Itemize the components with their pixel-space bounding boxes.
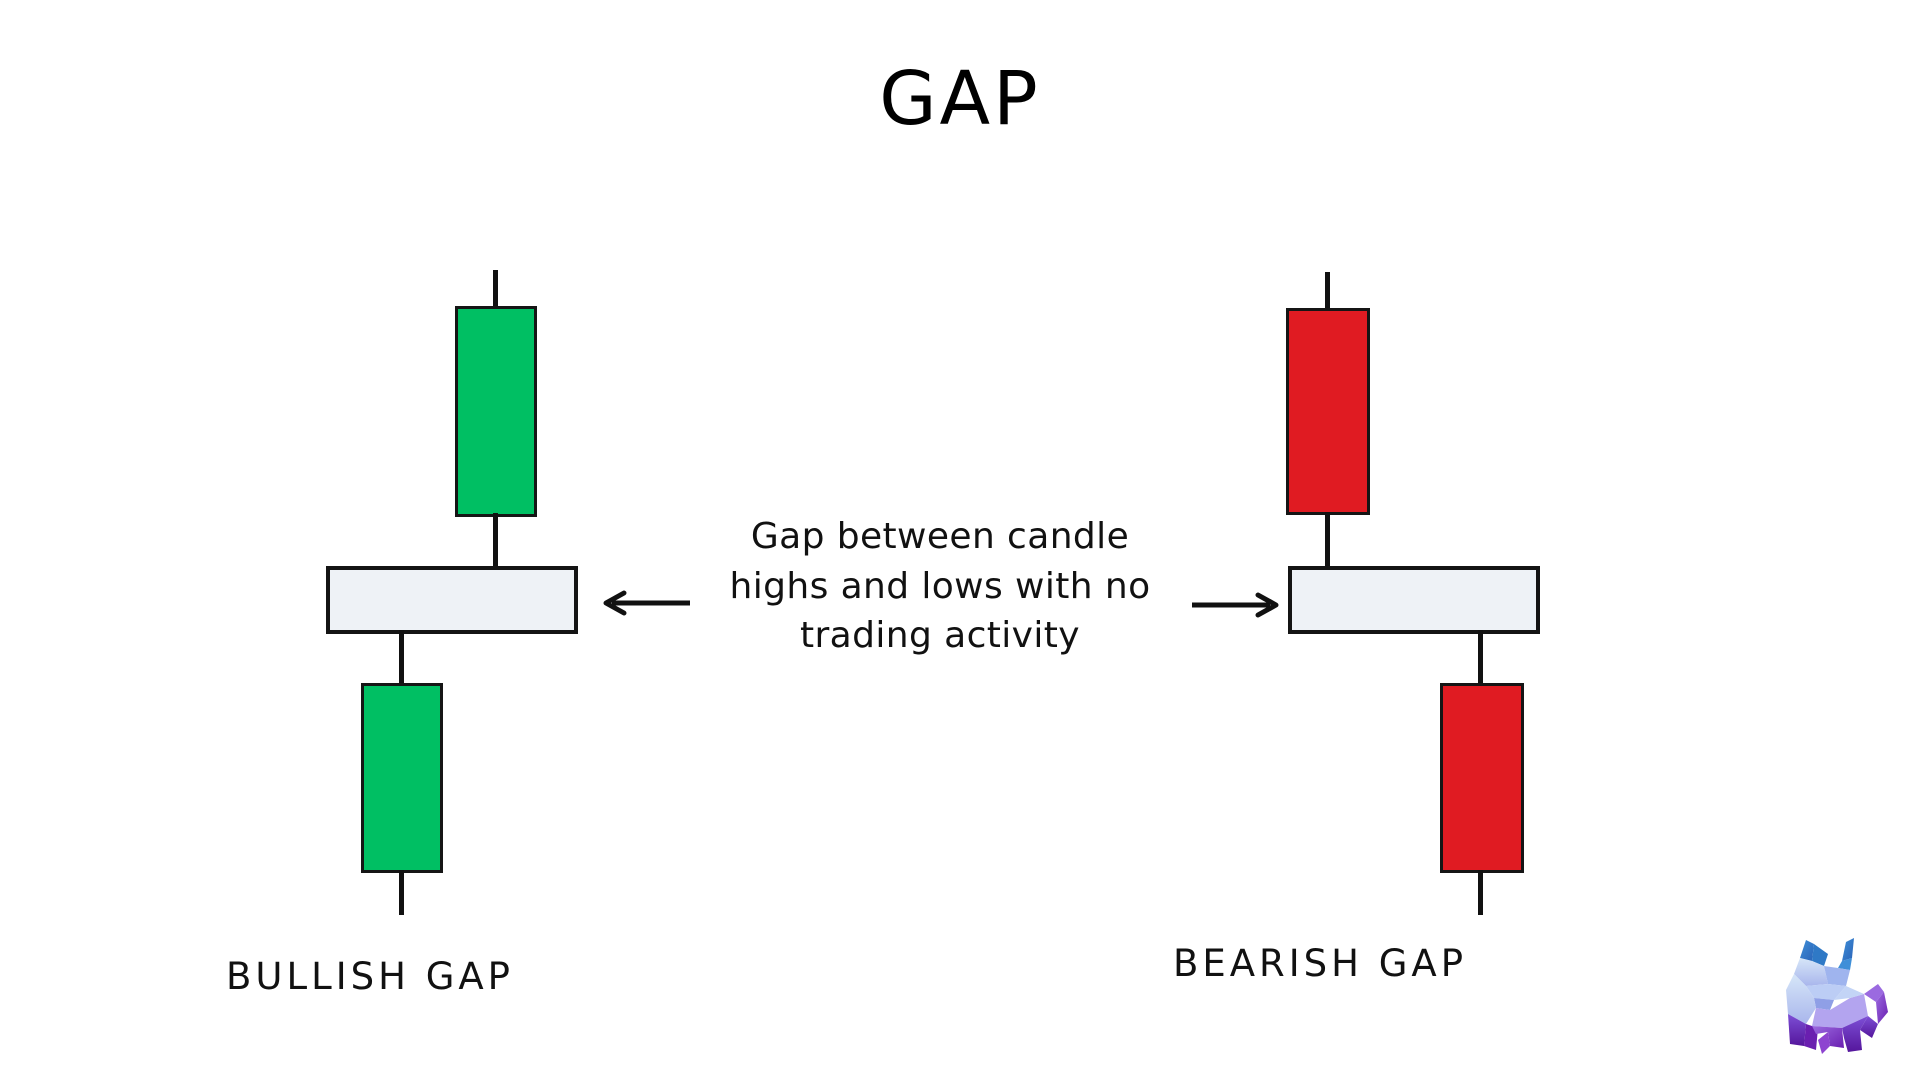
bearish-lower-candle-lower-wick (1478, 870, 1483, 915)
bull-logo-icon (1772, 928, 1892, 1058)
bearish-upper-candle-body (1286, 308, 1370, 515)
bearish-gap-zone (1288, 566, 1540, 634)
diagram-canvas: GAP BULLISH GAP Gap between candle highs… (0, 0, 1920, 1080)
bearish-lower-candle-body (1440, 683, 1524, 873)
bearish-gap-caption: BEARISH GAP (1100, 942, 1540, 985)
bearish-upper-candle-lower-wick (1325, 512, 1330, 570)
bearish-gap-group: BEARISH GAP (0, 0, 1920, 1080)
bearish-lower-candle-upper-wick (1478, 630, 1483, 686)
